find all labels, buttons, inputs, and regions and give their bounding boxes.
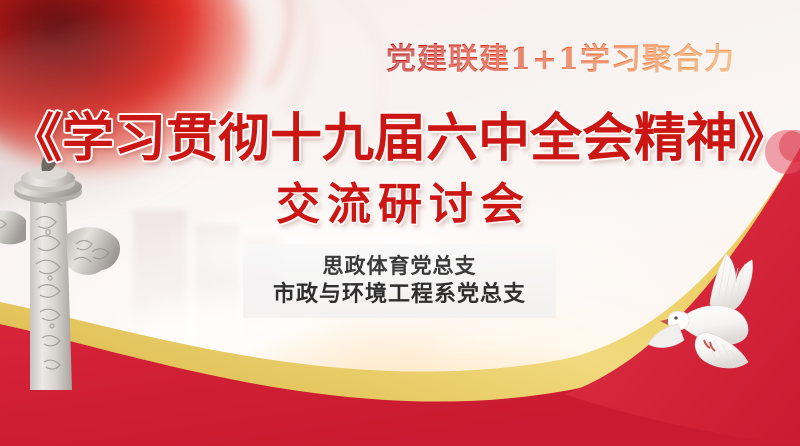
banner-subtitle-top: 党建联建1+1学习聚合力	[386, 34, 735, 78]
organization-line-1: 思政体育党总支	[323, 253, 477, 279]
banner-sub-title: 交流研讨会	[0, 168, 800, 232]
banner-main-title: 《学习贯彻十九届六中全会精神》	[0, 96, 800, 171]
party-building-banner: 党建联建1+1学习聚合力 《学习贯彻十九届六中全会精神》 交流研讨会 思政体育党…	[0, 0, 800, 446]
ghost-building-decor	[196, 225, 238, 345]
organization-line-2: 市政与环境工程系党总支	[273, 281, 526, 309]
organization-panel: 思政体育党总支 市政与环境工程系党总支	[243, 244, 556, 318]
